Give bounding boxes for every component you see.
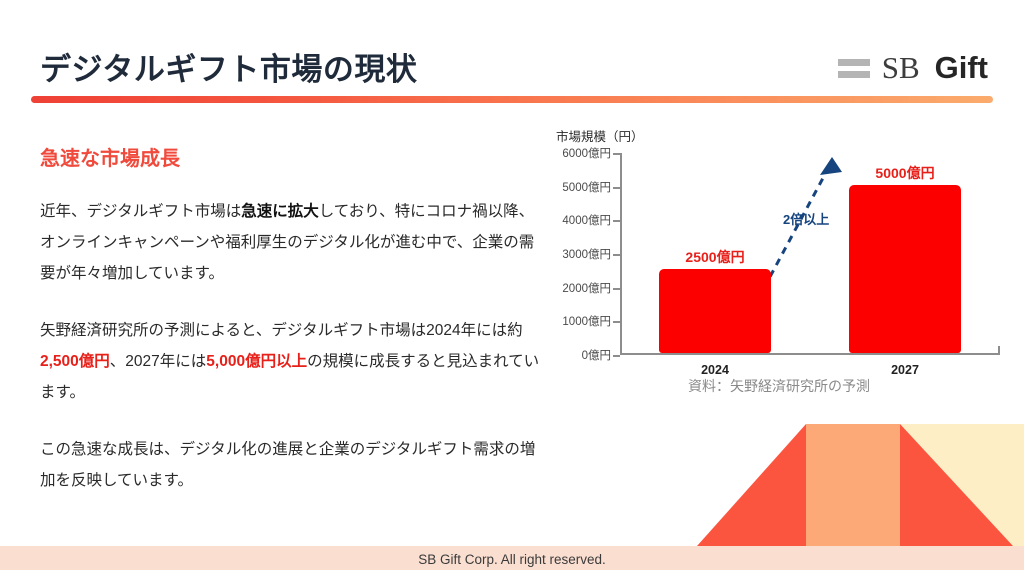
x-axis-line [620,353,1000,355]
body-paragraph: この急速な成長は、デジタル化の進展と企業のデジタルギフト需求の増加を反映していま… [40,434,548,496]
text-run: この急速な成長は、デジタル化の進展と企業のデジタルギフト需求の増加を反映していま… [40,441,535,489]
title-divider [31,96,993,103]
slide-canvas: デジタルギフト市場の現状 SB Gift 急速な市場成長 近年、デジタルギフト市… [0,0,1024,570]
body-copy: 近年、デジタルギフト市場は急速に拡大しており、特にコロナ禍以降、オンラインキャン… [40,196,548,496]
y-axis-tick-label: 1000億円 [562,313,620,329]
footer-text: SB Gift Corp. All right reserved. [0,552,1024,567]
x-axis-end-tick [998,346,1000,355]
section-heading: 急速な市場成長 [40,142,180,171]
emphasis-run: 急速に拡大 [241,203,319,220]
sb-gift-bars-icon [838,59,870,78]
growth-annotation-label: 2倍以上 [783,209,829,228]
y-axis-tick-label: 2000億円 [562,280,620,296]
chart-bar [849,185,961,353]
text-run: 、2027年には [110,353,206,370]
chart-axis-title: 市場規模（円） [556,126,644,145]
page-title: デジタルギフト市場の現状 [40,44,417,89]
emphasis-run: 5,000億円以上 [206,353,307,370]
chart-source-note: 資料：矢野経済研究所の予測 [548,376,1010,396]
y-axis-tick-label: 6000億円 [562,145,620,161]
emphasis-run: 2,500億円 [40,353,110,370]
chart-bar-value-label: 2500億円 [685,247,744,267]
body-paragraph: 近年、デジタルギフト市場は急速に拡大しており、特にコロナ禍以降、オンラインキャン… [40,196,548,289]
y-axis-tick-label: 4000億円 [562,212,620,228]
y-axis-tick-label: 3000億円 [562,246,620,262]
text-run: 矢野経済研究所の予測によると、デジタルギフト市場は2024年には約 [40,322,523,339]
y-axis-line [620,153,622,355]
y-axis-tick-label: 5000億円 [562,179,620,195]
brand-sb-text: SB [882,50,920,86]
y-axis-tick-label: 0億円 [582,347,620,363]
chart-bar-value-label: 5000億円 [875,163,934,183]
market-size-chart: 市場規模（円） 2倍以上 0億円1000億円2000億円3000億円4000億円… [548,126,1010,406]
brand-logo: SB Gift [838,50,988,86]
body-paragraph: 矢野経済研究所の予測によると、デジタルギフト市場は2024年には約2,500億円… [40,315,548,408]
x-axis-tick-label: 2024 [701,363,729,377]
x-axis-tick-label: 2027 [891,363,919,377]
chart-bar [659,269,771,353]
brand-gift-text: Gift [935,50,988,86]
text-run: 近年、デジタルギフト市場は [40,203,241,220]
chart-plot-area: 2倍以上 0億円1000億円2000億円3000億円4000億円5000億円60… [620,153,1000,355]
